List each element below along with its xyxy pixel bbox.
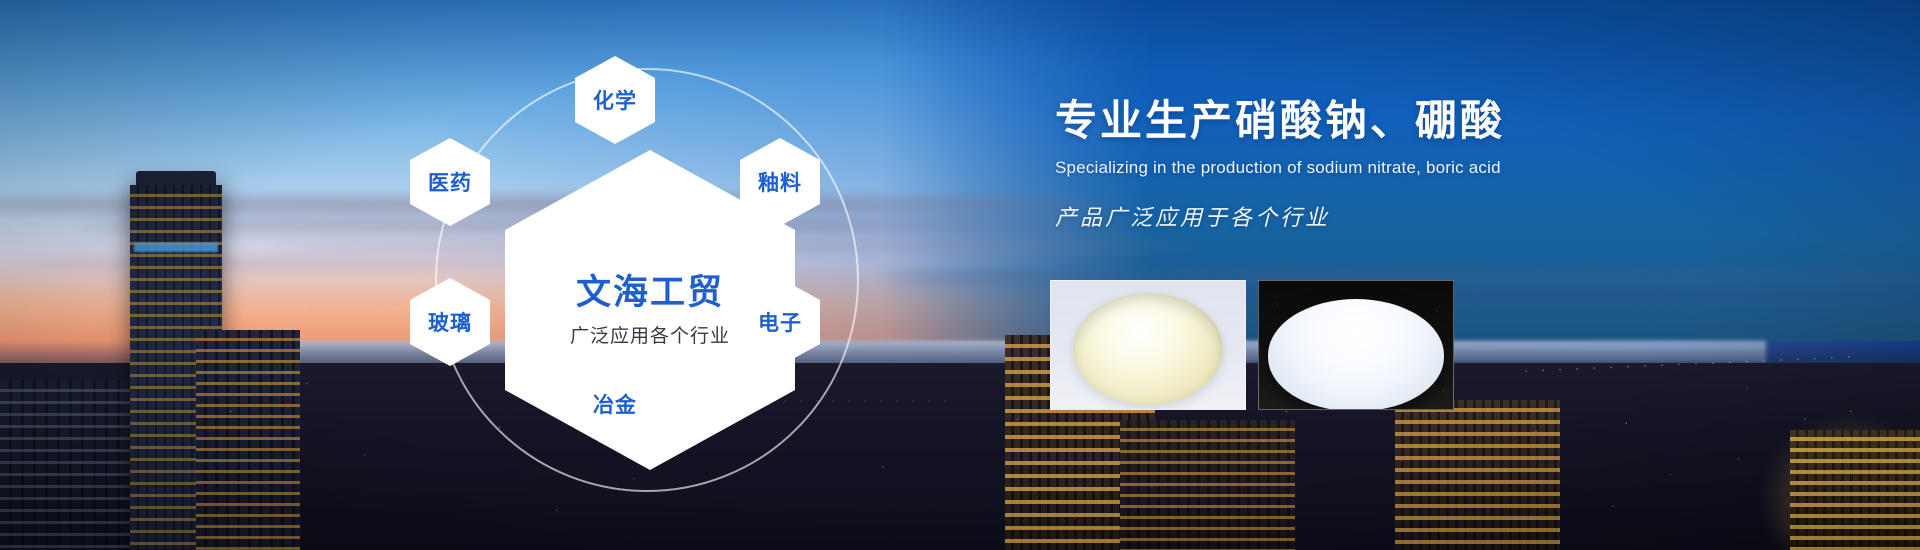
brand-name: 文海工贸 bbox=[570, 272, 730, 316]
industry-hex-diagram: 文海工贸 广泛应用各个行业 化学 釉料 电子 冶金 玻璃 医药 bbox=[420, 20, 1040, 550]
hex-node-label: 玻璃 bbox=[428, 307, 472, 337]
headline-chinese: 专业生产硝酸钠、硼酸 bbox=[1055, 96, 1875, 146]
headline-english: Specializing in the production of sodium… bbox=[1055, 158, 1875, 178]
product-photo-sodium-nitrate[interactable] bbox=[1050, 280, 1246, 410]
powder-grain-texture bbox=[1073, 293, 1223, 405]
brand-tagline: 广泛应用各个行业 bbox=[570, 325, 730, 349]
hex-node-label: 医药 bbox=[428, 167, 472, 197]
powder-heap bbox=[1268, 299, 1444, 410]
powder-grain-texture bbox=[1268, 299, 1444, 410]
promo-banner: 文海工贸 广泛应用各个行业 化学 釉料 电子 冶金 玻璃 医药 专业生产硝酸钠、… bbox=[0, 0, 1920, 550]
product-photo-boric-acid[interactable] bbox=[1258, 280, 1454, 410]
banner-copy: 专业生产硝酸钠、硼酸 Specializing in the productio… bbox=[1055, 96, 1875, 232]
hex-node-label: 化学 bbox=[593, 85, 637, 115]
hex-node-label: 电子 bbox=[758, 307, 802, 337]
product-photo-strip bbox=[1050, 280, 1454, 410]
tagline-chinese: 产品广泛应用于各个行业 bbox=[1055, 200, 1875, 232]
hex-node-label: 釉料 bbox=[758, 167, 802, 197]
powder-heap bbox=[1073, 293, 1223, 405]
hex-node-label: 冶金 bbox=[593, 389, 637, 419]
